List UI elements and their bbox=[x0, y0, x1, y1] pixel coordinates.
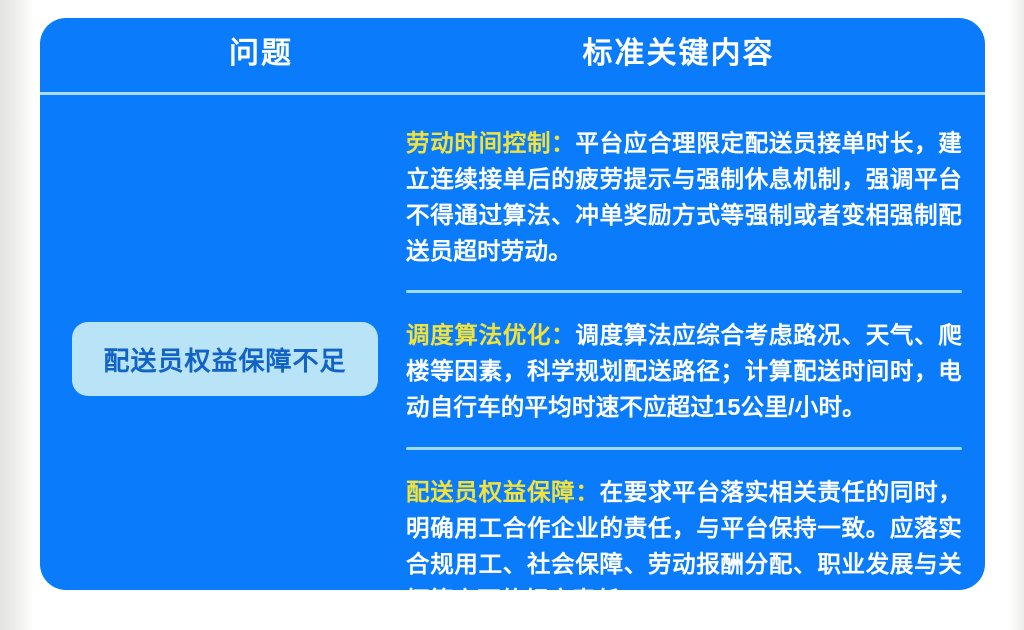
content-block-term: 调度算法优化： bbox=[406, 322, 575, 348]
standards-summary-card: 问题 标准关键内容 配送员权益保障不足 劳动时间控制：平台应合理限定配送员接单时… bbox=[40, 18, 985, 590]
content-block-divider bbox=[406, 447, 962, 450]
content-block: 调度算法优化：调度算法应综合考虑路况、天气、爬楼等因素，科学规划配送路径；计算配… bbox=[406, 317, 962, 425]
column-header-question: 问题 bbox=[136, 18, 386, 90]
content-block-term: 配送员权益保障： bbox=[406, 479, 600, 505]
page-left-shade bbox=[0, 0, 34, 630]
content-block-term: 劳动时间控制： bbox=[406, 130, 575, 156]
issue-label-text: 配送员权益保障不足 bbox=[103, 341, 346, 378]
column-header-standard-content: 标准关键内容 bbox=[406, 18, 951, 90]
standard-content-column: 劳动时间控制：平台应合理限定配送员接单时长，建立连续接单后的疲劳提示与强制休息机… bbox=[406, 97, 962, 590]
issue-label-pill: 配送员权益保障不足 bbox=[72, 322, 378, 396]
table-header-row: 问题 标准关键内容 bbox=[40, 18, 985, 90]
header-divider bbox=[40, 92, 985, 95]
content-block: 配送员权益保障：在要求平台落实相关责任的同时，明确用工合作企业的责任，与平台保持… bbox=[406, 474, 962, 590]
content-block-text: 调度算法优化：调度算法应综合考虑路况、天气、爬楼等因素，科学规划配送路径；计算配… bbox=[406, 317, 962, 425]
table-body: 配送员权益保障不足 劳动时间控制：平台应合理限定配送员接单时长，建立连续接单后的… bbox=[40, 97, 985, 590]
content-block-text: 配送员权益保障：在要求平台落实相关责任的同时，明确用工合作企业的责任，与平台保持… bbox=[406, 474, 962, 590]
content-block: 劳动时间控制：平台应合理限定配送员接单时长，建立连续接单后的疲劳提示与强制休息机… bbox=[406, 125, 962, 269]
page-right-shade bbox=[1008, 0, 1024, 630]
content-block-text: 劳动时间控制：平台应合理限定配送员接单时长，建立连续接单后的疲劳提示与强制休息机… bbox=[406, 125, 962, 269]
content-block-divider bbox=[406, 290, 962, 293]
